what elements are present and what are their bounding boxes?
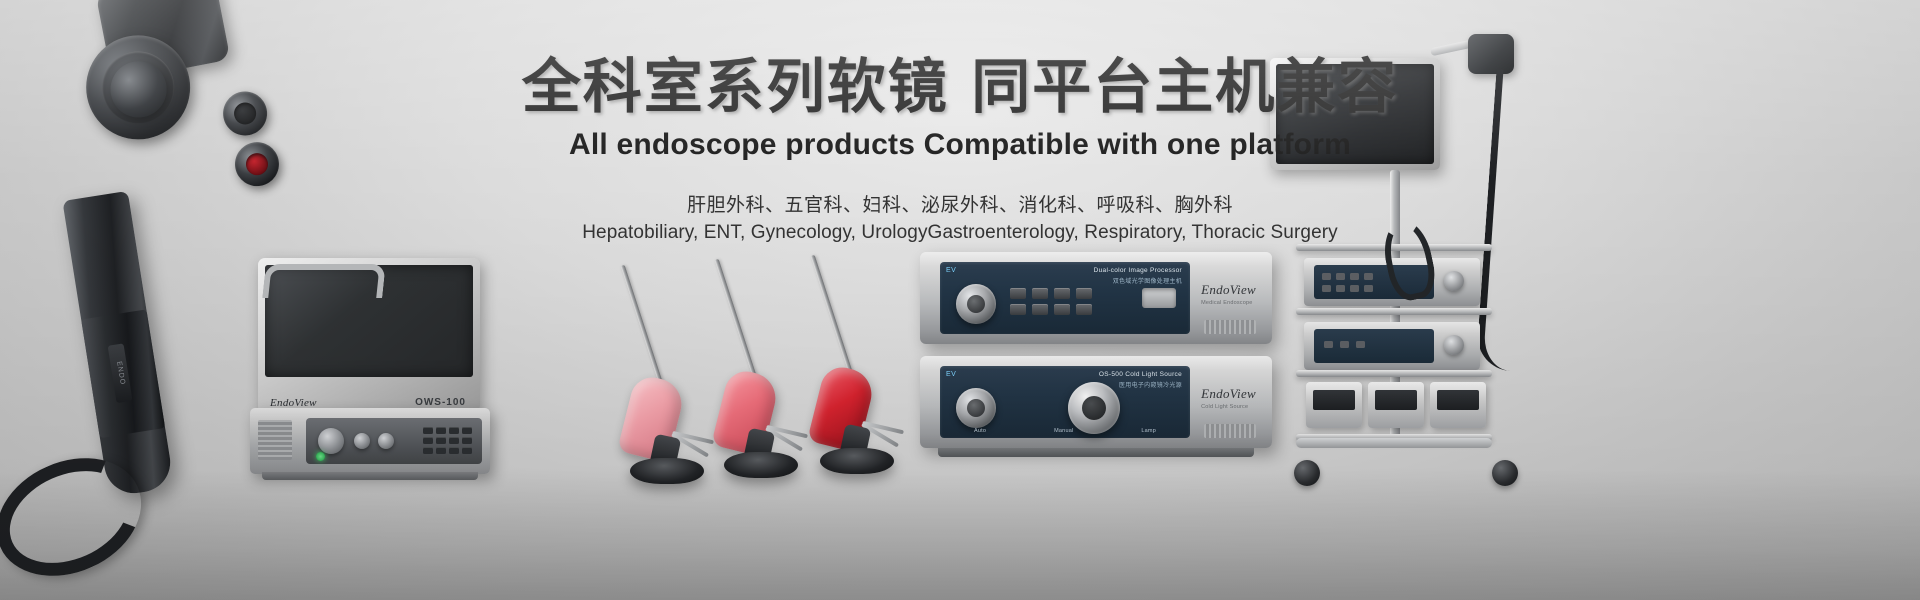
- light-source-label-auto: Auto: [974, 428, 986, 434]
- processor-front-panel: EV Dual-color Image Processor 双色域光学图像处理主…: [940, 262, 1190, 334]
- light-source-brand-sub: Cold Light Source: [1201, 404, 1256, 410]
- processor-knob: [956, 284, 996, 324]
- cart-caster-left: [1294, 460, 1320, 486]
- light-source-title-cn: 医用电子内窥镜冷光源: [1099, 380, 1182, 389]
- specialties-chinese: 肝胆外科、五官科、妇科、泌尿外科、消化科、呼吸科、胸外科: [0, 190, 1920, 217]
- cart-light-dial: [1444, 335, 1464, 355]
- light-source-brightness-dial: [1068, 382, 1120, 434]
- light-source-label-manual: Manual: [1054, 428, 1073, 434]
- processor-brand-sub: Medical Endoscope: [1201, 300, 1256, 306]
- workstation-dial-secondary: [354, 433, 370, 449]
- specialties-english: Hepatobiliary, ENT, Gynecology, UrologyG…: [0, 222, 1920, 244]
- processor-title-cn: 双色域光学图像处理主机: [1094, 276, 1182, 285]
- light-source-front-panel: EV OS-500 Cold Light Source 医用电子内窥镜冷光源 A…: [940, 366, 1190, 438]
- cart-caster-right: [1492, 460, 1518, 486]
- rigid-instrument-red: [782, 248, 932, 478]
- light-source-vent: [1204, 424, 1256, 438]
- processor-button-row: [1010, 288, 1092, 315]
- light-source-brand: EndoView Cold Light Source: [1201, 386, 1256, 410]
- cart-light-source-unit: [1304, 322, 1480, 370]
- processor-tag: EV: [946, 267, 956, 274]
- cart-base-arm: [1296, 438, 1492, 448]
- workstation-keypad: [423, 427, 472, 454]
- light-source-tag: EV: [946, 371, 956, 378]
- light-source-unit: EV OS-500 Cold Light Source 医用电子内窥镜冷光源 A…: [920, 356, 1272, 448]
- headline-chinese: 全科室系列软镜 同平台主机兼容: [0, 52, 1920, 122]
- light-source-title-en: OS-500 Cold Light Source: [1099, 371, 1182, 378]
- headline-english: All endoscope products Compatible with o…: [0, 128, 1920, 162]
- workstation-model-label: OWS-100: [415, 397, 466, 408]
- processor-brand: EndoView Medical Endoscope: [1201, 282, 1256, 306]
- endoscope-product-banner: ENDO 全科室系列软镜 同平台主机兼容 All endoscope produ…: [0, 0, 1920, 600]
- cart-ccu-dial: [1444, 271, 1464, 291]
- workstation-dial-tertiary: [378, 433, 394, 449]
- cart-shelf-3: [1296, 370, 1492, 377]
- cart-accessory-pump: [1368, 382, 1424, 428]
- processor-vent: [1204, 320, 1256, 334]
- image-processor-unit: EV Dual-color Image Processor 双色域光学图像处理主…: [920, 252, 1272, 344]
- light-source-label-lamp: Lamp: [1141, 428, 1156, 434]
- cart-accessory-recorder: [1430, 382, 1486, 428]
- instrument-stand-base: [820, 448, 894, 474]
- light-source-title-block: OS-500 Cold Light Source 医用电子内窥镜冷光源: [1099, 371, 1182, 389]
- stack-feet: [938, 448, 1254, 457]
- cart-accessory-insufflator: [1306, 382, 1362, 428]
- processor-title-en: Dual-color Image Processor: [1094, 267, 1182, 274]
- light-source-knob: [956, 388, 996, 428]
- banner-text-block: 全科室系列软镜 同平台主机兼容 All endoscope products C…: [0, 52, 1920, 244]
- processor-usb-slot: [1142, 288, 1176, 308]
- processor-title-block: Dual-color Image Processor 双色域光学图像处理主机: [1094, 267, 1182, 285]
- cart-shelf-2: [1296, 308, 1492, 315]
- light-source-labels: Auto Manual Lamp: [940, 428, 1190, 434]
- processor-stack-product: EV Dual-color Image Processor 双色域光学图像处理主…: [920, 252, 1280, 482]
- cart-light-panel: [1314, 329, 1434, 363]
